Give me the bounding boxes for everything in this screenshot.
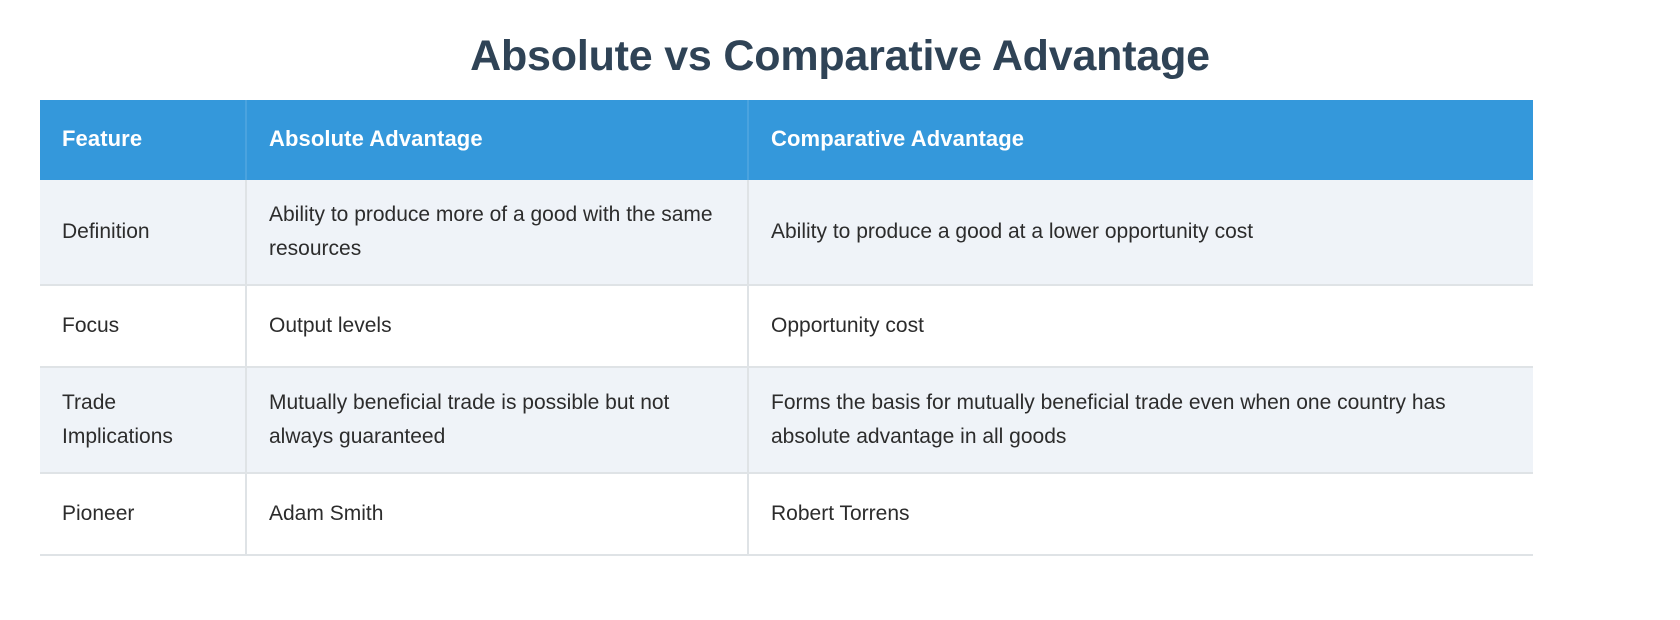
table-row: Pioneer Adam Smith Robert Torrens: [40, 473, 1533, 555]
comparison-table: Feature Absolute Advantage Comparative A…: [40, 100, 1533, 556]
table-body: Definition Ability to produce more of a …: [40, 180, 1533, 555]
table-header-row: Feature Absolute Advantage Comparative A…: [40, 100, 1533, 180]
table-row: Focus Output levels Opportunity cost: [40, 285, 1533, 367]
page-title: Absolute vs Comparative Advantage: [0, 0, 1680, 82]
cell-feature: Focus: [40, 285, 246, 367]
cell-feature: Definition: [40, 180, 246, 285]
column-header-feature: Feature: [40, 100, 246, 180]
cell-absolute-advantage: Ability to produce more of a good with t…: [246, 180, 748, 285]
comparison-table-container: Feature Absolute Advantage Comparative A…: [40, 100, 1533, 556]
cell-feature: Trade Implications: [40, 367, 246, 473]
column-header-comparative-advantage: Comparative Advantage: [748, 100, 1533, 180]
table-row: Definition Ability to produce more of a …: [40, 180, 1533, 285]
page-root: Absolute vs Comparative Advantage Featur…: [0, 0, 1680, 620]
table-row: Trade Implications Mutually beneficial t…: [40, 367, 1533, 473]
cell-comparative-advantage: Forms the basis for mutually beneficial …: [748, 367, 1533, 473]
cell-comparative-advantage: Opportunity cost: [748, 285, 1533, 367]
cell-feature: Pioneer: [40, 473, 246, 555]
cell-absolute-advantage: Adam Smith: [246, 473, 748, 555]
column-header-absolute-advantage: Absolute Advantage: [246, 100, 748, 180]
cell-comparative-advantage: Robert Torrens: [748, 473, 1533, 555]
cell-absolute-advantage: Mutually beneficial trade is possible bu…: [246, 367, 748, 473]
table-header: Feature Absolute Advantage Comparative A…: [40, 100, 1533, 180]
cell-comparative-advantage: Ability to produce a good at a lower opp…: [748, 180, 1533, 285]
cell-absolute-advantage: Output levels: [246, 285, 748, 367]
